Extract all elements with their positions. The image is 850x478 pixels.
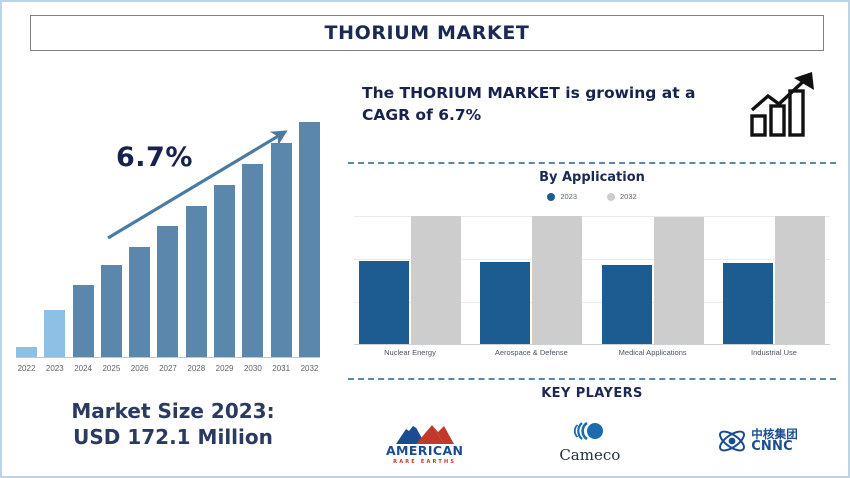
legend-dot-icon bbox=[607, 193, 615, 201]
cnnc-lockup: 中核集团 CNNC bbox=[716, 426, 798, 456]
infographic-page: THORIUM MARKET 6.7% bbox=[0, 0, 850, 478]
year-axis-labels: 2022 2023 2024 2025 2026 2027 2028 2029 … bbox=[16, 364, 320, 373]
year-column-2031 bbox=[271, 105, 292, 357]
legend-dot-icon bbox=[547, 193, 555, 201]
year-column-2025 bbox=[101, 105, 122, 357]
year-label: 2031 bbox=[271, 364, 292, 373]
bar-group-industrial-use bbox=[718, 216, 830, 344]
year-column-2028 bbox=[186, 105, 207, 357]
logo-cnnc[interactable]: 中核集团 CNNC bbox=[716, 426, 798, 456]
year-label: 2023 bbox=[44, 364, 65, 373]
year-column-2024 bbox=[73, 105, 94, 357]
bar-group-nuclear-energy bbox=[354, 216, 466, 344]
bar-group-medical-applications bbox=[597, 216, 709, 344]
application-axis-labels: Nuclear Energy Aerospace & Defense Medic… bbox=[354, 348, 830, 357]
bar-group-aerospace-defense bbox=[475, 216, 587, 344]
year-column-2032 bbox=[299, 105, 320, 357]
bar-2032 bbox=[775, 216, 825, 344]
cameco-waves-icon bbox=[570, 419, 610, 445]
title-bar: THORIUM MARKET bbox=[30, 15, 824, 51]
bar-2023 bbox=[602, 265, 652, 344]
bar-2032 bbox=[654, 217, 704, 344]
bar-2022 bbox=[16, 347, 37, 357]
year-column-2029 bbox=[214, 105, 235, 357]
by-application-chart: Nuclear Energy Aerospace & Defense Medic… bbox=[354, 216, 830, 364]
year-label: 2029 bbox=[214, 364, 235, 373]
bar-2023 bbox=[359, 261, 409, 344]
year-label: 2027 bbox=[157, 364, 178, 373]
market-size-line-2: USD 172.1 Million bbox=[8, 424, 338, 450]
year-label: 2030 bbox=[242, 364, 263, 373]
market-size-bar-chart: 2022 2023 2024 2025 2026 2027 2028 2029 … bbox=[16, 98, 320, 368]
year-column-2026 bbox=[129, 105, 150, 357]
key-players-title: KEY PLAYERS bbox=[338, 386, 846, 401]
bar-2029 bbox=[214, 185, 235, 357]
year-column-2027 bbox=[157, 105, 178, 357]
year-label: 2026 bbox=[129, 364, 150, 373]
bar-2031 bbox=[271, 143, 292, 357]
cnnc-text-block: 中核集团 CNNC bbox=[751, 429, 798, 454]
atom-icon bbox=[716, 426, 748, 456]
chart-legend: 2023 2032 bbox=[338, 192, 846, 201]
market-size-line-1: Market Size 2023: bbox=[8, 398, 338, 424]
bar-2024 bbox=[73, 285, 94, 357]
year-label: 2032 bbox=[299, 364, 320, 373]
bar-2032 bbox=[532, 216, 582, 344]
bar-2023 bbox=[44, 310, 65, 357]
bar-2023 bbox=[480, 262, 530, 344]
category-label: Medical Applications bbox=[597, 348, 709, 357]
bar-2032 bbox=[299, 122, 320, 357]
logo-label-en: CNNC bbox=[751, 440, 798, 453]
bar-2028 bbox=[186, 206, 207, 357]
bar-2027 bbox=[157, 226, 178, 357]
year-label: 2025 bbox=[101, 364, 122, 373]
year-column-2030 bbox=[242, 105, 263, 357]
bar-2026 bbox=[129, 247, 150, 357]
page-title: THORIUM MARKET bbox=[325, 22, 530, 44]
legend-item-2032: 2032 bbox=[607, 192, 637, 201]
divider-bottom bbox=[348, 378, 836, 380]
market-forecast-panel: 6.7% bbox=[8, 58, 338, 474]
year-label: 2022 bbox=[16, 364, 37, 373]
logo-label: AMERICAN bbox=[386, 443, 463, 458]
chart-baseline bbox=[354, 344, 830, 345]
year-column-2022 bbox=[16, 105, 37, 357]
year-label: 2024 bbox=[73, 364, 94, 373]
chart-baseline bbox=[16, 357, 320, 358]
logo-sublabel: RARE EARTHS bbox=[393, 459, 456, 465]
bar-2030 bbox=[242, 164, 263, 357]
bar-2025 bbox=[101, 265, 122, 357]
logo-label: Cameco bbox=[559, 446, 620, 464]
legend-label: 2032 bbox=[620, 192, 637, 201]
by-application-title: By Application bbox=[338, 170, 846, 185]
key-players-logos: AMERICAN RARE EARTHS Cameco bbox=[338, 410, 846, 472]
legend-item-2023: 2023 bbox=[547, 192, 577, 201]
mountain-peaks-icon bbox=[392, 418, 458, 444]
bar-2032 bbox=[411, 216, 461, 344]
divider-top bbox=[348, 162, 836, 164]
chart-plot-area bbox=[354, 216, 830, 344]
details-panel: The THORIUM MARKET is growing at a CAGR … bbox=[338, 58, 846, 474]
category-label: Aerospace & Defense bbox=[475, 348, 587, 357]
cagr-headline: The THORIUM MARKET is growing at a CAGR … bbox=[362, 82, 734, 127]
category-label: Industrial Use bbox=[718, 348, 830, 357]
category-label: Nuclear Energy bbox=[354, 348, 466, 357]
market-size-callout: Market Size 2023: USD 172.1 Million bbox=[8, 398, 338, 451]
bar-2023 bbox=[723, 263, 773, 344]
application-bar-groups bbox=[354, 216, 830, 344]
market-size-bars bbox=[16, 105, 320, 357]
logo-cameco[interactable]: Cameco bbox=[559, 419, 620, 464]
bar-chart-growth-icon bbox=[746, 66, 828, 138]
year-column-2023 bbox=[44, 105, 65, 357]
legend-label: 2023 bbox=[560, 192, 577, 201]
year-label: 2028 bbox=[186, 364, 207, 373]
logo-american-rare-earths[interactable]: AMERICAN RARE EARTHS bbox=[386, 418, 463, 465]
